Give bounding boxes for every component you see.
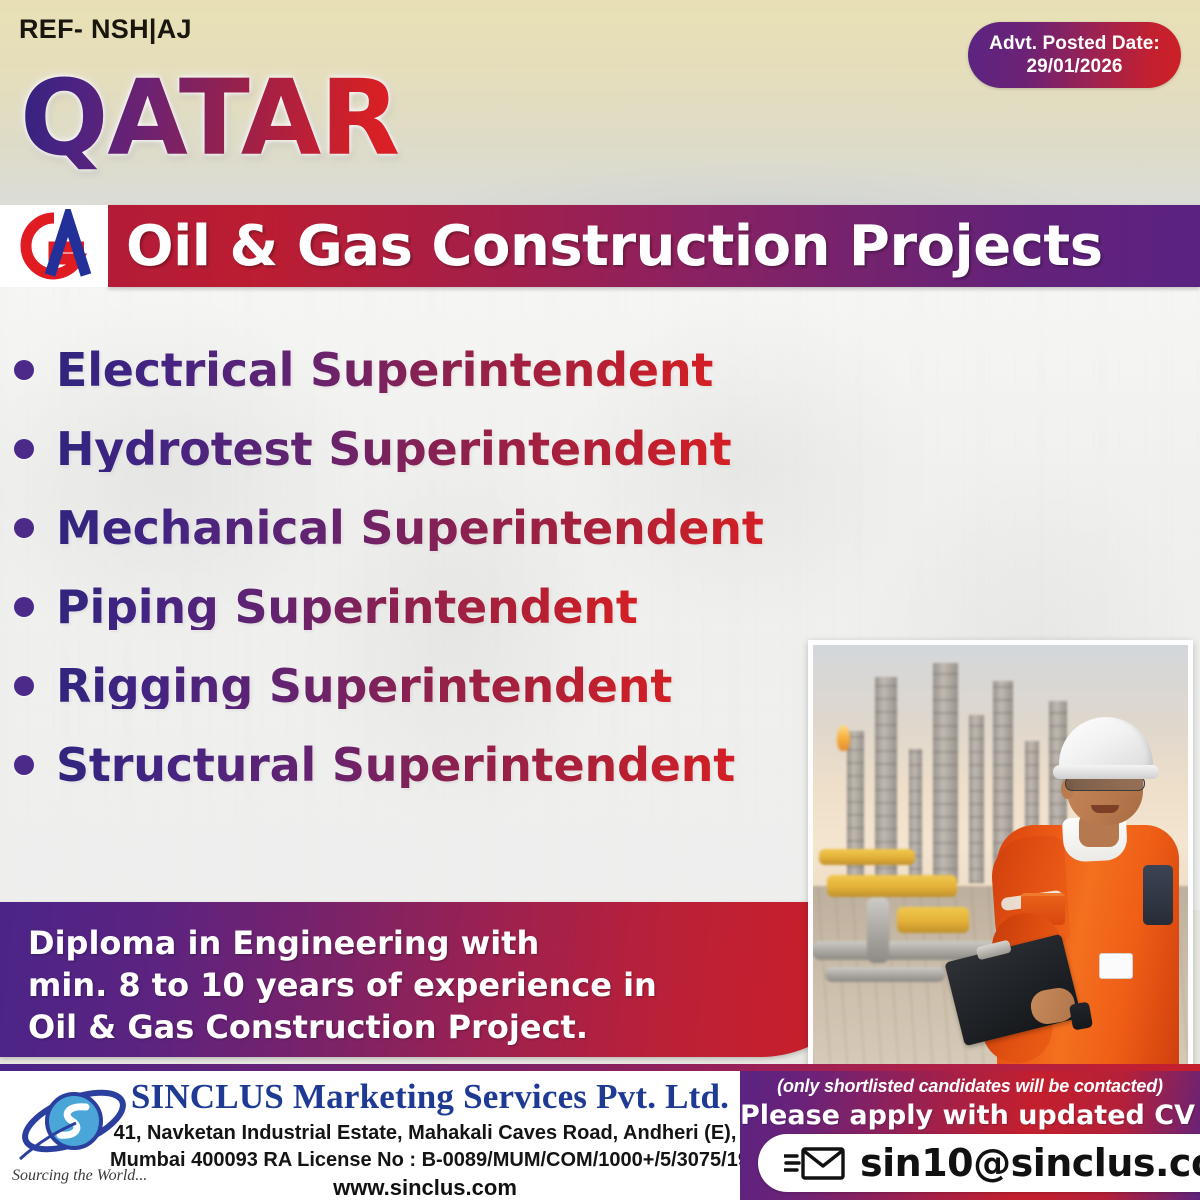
apply-instruction: Please apply with updated CV to	[740, 1100, 1200, 1131]
worker-wristwatch	[1069, 1001, 1093, 1030]
bullet-icon	[14, 518, 34, 538]
worker-radio	[1143, 865, 1173, 925]
email-pill[interactable]: sin10@sinclus.com	[758, 1134, 1200, 1192]
banner-title-text: Oil & Gas Construction Projects	[108, 214, 1103, 279]
job-title: Rigging Superintendent	[56, 663, 672, 709]
date-badge-value: 29/01/2026	[1026, 55, 1122, 78]
qualification-line-3: Oil & Gas Construction Project.	[28, 1006, 728, 1048]
job-list: Electrical Superintendent Hydrotest Supe…	[14, 330, 844, 804]
hard-hat-brim	[1053, 765, 1159, 779]
company-name: SINCLUS Marketing Services Pvt. Ltd.	[120, 1077, 740, 1117]
job-advertisement-poster: REF- NSH|AJ Advt. Posted Date: 29/01/202…	[0, 0, 1200, 1200]
job-list-item: Hydrotest Superintendent	[14, 409, 844, 488]
job-title: Piping Superintendent	[56, 584, 638, 630]
envelope-icon	[784, 1143, 846, 1183]
company-website[interactable]: www.sinclus.com	[110, 1175, 740, 1200]
job-list-item: Structural Superintendent	[14, 725, 844, 804]
job-list-item: Mechanical Superintendent	[14, 488, 844, 567]
bullet-icon	[14, 439, 34, 459]
qualification-line-2: min. 8 to 10 years of experience in	[28, 964, 728, 1006]
job-title: Hydrotest Superintendent	[56, 426, 731, 472]
bullet-icon	[14, 360, 34, 380]
address-line-2: Mumbai 400093 RA License No : B-0089/MUM…	[110, 1147, 740, 1174]
date-badge-label: Advt. Posted Date:	[989, 32, 1160, 55]
ga-logo	[0, 205, 108, 287]
shortlist-note: (only shortlisted candidates will be con…	[740, 1076, 1200, 1097]
footer-company-block: Sourcing the World... SINCLUS Marketing …	[0, 1071, 740, 1200]
company-address: 41, Navketan Industrial Estate, Mahakali…	[110, 1120, 740, 1174]
footer: Sourcing the World... SINCLUS Marketing …	[0, 1071, 1200, 1200]
banner-title-container: Oil & Gas Construction Projects	[108, 205, 1200, 287]
worker-smile	[1091, 805, 1119, 813]
qualification-line-1: Diploma in Engineering with	[28, 922, 728, 964]
job-title: Electrical Superintendent	[56, 347, 713, 393]
worker-id-badge	[1099, 953, 1133, 979]
address-line-1: 41, Navketan Industrial Estate, Mahakali…	[110, 1120, 740, 1147]
job-list-item: Piping Superintendent	[14, 567, 844, 646]
job-title: Mechanical Superintendent	[56, 505, 764, 551]
email-address[interactable]: sin10@sinclus.com	[860, 1141, 1200, 1185]
reference-code: REF- NSH|AJ	[19, 14, 192, 45]
ga-logo-icon	[8, 209, 100, 283]
footer-apply-block: (only shortlisted candidates will be con…	[740, 1071, 1200, 1200]
footer-divider	[0, 1064, 1200, 1071]
job-list-item: Rigging Superintendent	[14, 646, 844, 725]
country-title: QATAR	[20, 66, 399, 170]
clipboard-clip	[976, 940, 1012, 961]
bullet-icon	[14, 597, 34, 617]
bullet-icon	[14, 755, 34, 775]
job-list-item: Electrical Superintendent	[14, 330, 844, 409]
engineer-figure	[979, 670, 1193, 1075]
qualification-text: Diploma in Engineering with min. 8 to 10…	[28, 922, 728, 1049]
qualification-banner: Diploma in Engineering with min. 8 to 10…	[0, 902, 880, 1057]
engineer-photo	[808, 640, 1193, 1080]
title-banner-row: Oil & Gas Construction Projects	[0, 205, 1200, 287]
job-title: Structural Superintendent	[56, 742, 735, 788]
advt-posted-date-badge: Advt. Posted Date: 29/01/2026	[968, 22, 1181, 88]
bullet-icon	[14, 676, 34, 696]
